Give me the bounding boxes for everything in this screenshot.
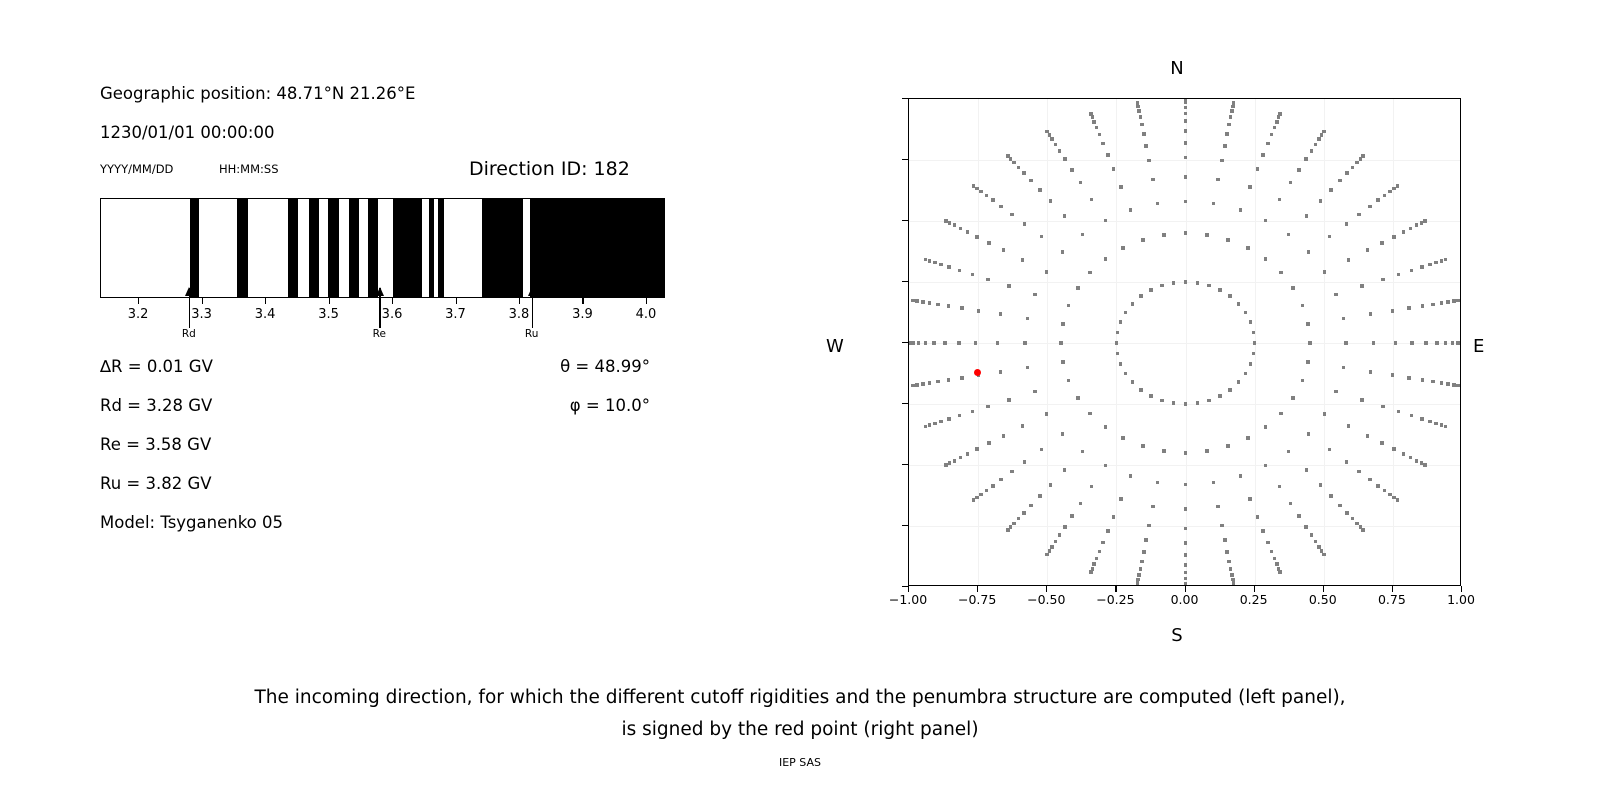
direction-dot (1058, 149, 1062, 153)
direction-dot (1216, 178, 1220, 182)
direction-dot (1184, 101, 1188, 105)
direction-dot (1089, 570, 1093, 574)
direction-dot (1355, 161, 1359, 165)
direction-dot (1006, 528, 1010, 532)
direction-dot (1435, 341, 1439, 345)
direction-dot (1409, 227, 1413, 231)
direction-dot (1402, 452, 1406, 456)
direction-dot (1050, 137, 1054, 141)
direction-dot (999, 312, 1003, 316)
direction-map-panel: −1.00−0.75−0.50−0.250.000.250.500.751.00… (0, 0, 1600, 660)
direction-dot (1396, 498, 1400, 502)
x-tick-label: 0.00 (1171, 592, 1199, 607)
direction-dot (1397, 273, 1401, 277)
direction-dot (1368, 478, 1372, 482)
direction-dot (911, 341, 915, 345)
direction-dot (1021, 424, 1025, 428)
direction-dot (1121, 436, 1125, 440)
direction-dot (1308, 341, 1312, 345)
direction-dot (1162, 449, 1166, 453)
direction-dot (944, 219, 948, 223)
direction-dot (1361, 154, 1365, 158)
direction-dot (1045, 270, 1049, 274)
direction-dot (1239, 474, 1243, 478)
caption-line-2: is signed by the red point (right panel) (0, 719, 1600, 740)
direction-dot (1184, 527, 1188, 531)
direction-dot (1225, 550, 1229, 554)
direction-dot (1415, 459, 1419, 463)
y-tick-mark (902, 98, 908, 99)
direction-dot (1229, 115, 1233, 119)
direction-dot (1045, 412, 1049, 416)
direction-dot (975, 496, 979, 500)
direction-dot (1023, 341, 1027, 345)
direction-dot (1090, 485, 1094, 489)
direction-dot (1369, 370, 1373, 374)
direction-dot (1310, 533, 1314, 537)
direction-dot (1278, 112, 1282, 116)
direction-dot (1261, 153, 1265, 157)
direction-dot (1017, 517, 1021, 521)
direction-dot (1226, 444, 1230, 448)
direction-dot (1297, 168, 1301, 172)
direction-dot (979, 190, 983, 194)
direction-dot (1440, 301, 1444, 305)
gridline-vertical (1047, 99, 1048, 585)
direction-dot (1460, 341, 1461, 345)
direction-dot (1228, 294, 1232, 298)
direction-dot (1306, 322, 1310, 326)
direction-dot (1249, 362, 1253, 366)
direction-dot (1440, 381, 1444, 385)
direction-dot (1279, 271, 1283, 275)
gridline-horizontal (909, 343, 1460, 344)
direction-dot (1012, 161, 1016, 165)
direction-dot (1063, 525, 1067, 529)
direction-dot (1104, 464, 1108, 468)
direction-dot (1184, 200, 1188, 204)
direction-dot (1104, 219, 1108, 223)
direction-dot (928, 259, 932, 263)
direction-dot (1061, 250, 1065, 254)
direction-dot (1305, 468, 1309, 472)
gridline-horizontal (909, 221, 1460, 222)
direction-dot (1360, 398, 1364, 402)
direction-dot (975, 187, 979, 191)
direction-dot (1184, 129, 1188, 133)
direction-dot (1357, 470, 1361, 474)
direction-dot (1456, 341, 1460, 345)
direction-dot (1092, 120, 1096, 124)
direction-dot (1002, 248, 1006, 252)
direction-dot (1310, 149, 1314, 153)
direction-dot (1184, 553, 1188, 557)
direction-dot (1116, 331, 1120, 335)
direction-dot (1184, 119, 1188, 123)
direction-dot (1088, 271, 1092, 275)
direction-dot (1184, 98, 1188, 101)
direction-dot (1038, 494, 1042, 498)
direction-dot (1456, 384, 1460, 388)
direction-dot (972, 184, 976, 188)
direction-dot (1444, 341, 1448, 345)
direction-dot (1334, 293, 1338, 297)
direction-dot (1304, 157, 1308, 161)
direction-dot (924, 341, 928, 345)
direction-dot (1054, 143, 1058, 147)
direction-dot (944, 463, 948, 467)
direction-dot (1119, 497, 1123, 501)
direction-dot (1156, 202, 1160, 206)
direction-dot (1291, 396, 1295, 400)
direction-dot (1270, 133, 1274, 137)
direction-dot (1287, 233, 1291, 237)
direction-dot (1366, 248, 1370, 252)
direction-dot (999, 478, 1003, 482)
direction-dot (921, 300, 925, 304)
direction-dot (1076, 396, 1080, 400)
direction-dot (1121, 246, 1125, 250)
direction-dot (1381, 405, 1385, 409)
x-tick-label: 1.00 (1447, 592, 1475, 607)
direction-dot (1289, 502, 1293, 506)
direction-dot (1225, 132, 1229, 136)
direction-dot (1048, 133, 1052, 137)
direction-dot (1329, 188, 1333, 192)
direction-dot (908, 341, 911, 345)
direction-dot (1095, 126, 1099, 130)
direction-dot (1061, 360, 1065, 364)
direction-dot (1151, 178, 1155, 182)
direction-dot (1338, 504, 1342, 508)
y-tick-mark (902, 220, 908, 221)
direction-dot (1081, 450, 1085, 454)
compass-east-label: E (1473, 336, 1484, 357)
direction-dot (1136, 581, 1140, 585)
direction-dot (1264, 464, 1268, 468)
direction-dot (1205, 449, 1209, 453)
direction-dot (911, 299, 915, 303)
direction-dot (1227, 560, 1231, 564)
direction-dot (917, 341, 921, 345)
direction-dot (1141, 444, 1145, 448)
direction-dot (1275, 562, 1279, 566)
direction-dot (1391, 373, 1395, 377)
direction-dot (1351, 517, 1355, 521)
direction-dot (1184, 541, 1188, 545)
direction-dot (1317, 137, 1321, 141)
direction-dot (1421, 304, 1425, 308)
direction-dot (1002, 434, 1006, 438)
direction-dot (1397, 410, 1401, 414)
direction-dot (1291, 286, 1295, 290)
direction-dot (1264, 257, 1268, 261)
direction-dot (1372, 341, 1376, 345)
direction-dot (1140, 123, 1144, 127)
direction-dot (1106, 153, 1110, 157)
direction-dot (1142, 550, 1146, 554)
direction-dot (959, 227, 963, 231)
direction-dot (1314, 143, 1318, 147)
direction-dot (1095, 557, 1099, 561)
direction-dot (947, 378, 951, 382)
direction-dot (1237, 302, 1241, 306)
direction-dot (1063, 157, 1067, 161)
direction-dot (1421, 378, 1425, 382)
direction-dot (1098, 133, 1102, 137)
direction-dot (932, 341, 936, 345)
direction-dot (1196, 281, 1200, 285)
direction-dot (975, 447, 979, 451)
direction-dot (1010, 470, 1014, 474)
direction-dot (1139, 115, 1143, 119)
direction-dot (958, 269, 962, 273)
direction-dot (1088, 412, 1092, 416)
direction-dot (985, 489, 989, 493)
direction-dot (1050, 545, 1054, 549)
direction-dot (1045, 130, 1049, 134)
direction-dot (1156, 481, 1160, 485)
direction-dot (1144, 144, 1148, 148)
direction-dot (1434, 261, 1438, 265)
direction-dot (1218, 394, 1222, 398)
direction-dot (1410, 414, 1414, 418)
direction-dot (1090, 198, 1094, 202)
direction-dot (1383, 194, 1387, 198)
direction-dot (1338, 179, 1342, 183)
direction-dot (1297, 514, 1301, 518)
y-tick-mark (902, 159, 908, 160)
x-tick-label: 0.50 (1309, 592, 1337, 607)
direction-dot (1420, 417, 1424, 421)
direction-dot (1388, 190, 1392, 194)
direction-dot (958, 414, 962, 418)
direction-dot (971, 410, 975, 414)
direction-dot (1144, 538, 1148, 542)
direction-dot (948, 461, 952, 465)
direction-dot (1131, 380, 1135, 384)
direction-dot (1264, 219, 1268, 223)
direction-dot (1006, 154, 1010, 158)
direction-dot (1049, 199, 1053, 203)
direction-dot (933, 261, 937, 265)
direction-dot (1067, 304, 1071, 308)
direction-dot (947, 417, 951, 421)
direction-dot (1223, 538, 1227, 542)
direction-dot (1061, 432, 1065, 436)
direction-dot (1184, 577, 1188, 581)
direction-dot (1112, 167, 1116, 171)
x-tick-label: −0.25 (1096, 592, 1134, 607)
direction-dot (1383, 489, 1387, 493)
direction-dot (928, 423, 932, 427)
direction-dot (1061, 322, 1065, 326)
direction-dot (1038, 188, 1042, 192)
direction-dot (1368, 205, 1372, 209)
direction-dot (1456, 299, 1460, 303)
direction-dot (1328, 235, 1332, 239)
direction-dot (1410, 341, 1414, 345)
direction-dot (1431, 380, 1435, 384)
direction-dot (953, 223, 957, 227)
x-tick-label: −0.50 (1027, 592, 1065, 607)
direction-dot (1129, 474, 1133, 478)
direction-dot (1101, 541, 1105, 545)
y-tick-mark (902, 281, 908, 282)
direction-dot (1067, 379, 1071, 383)
direction-dot (1444, 258, 1448, 262)
direction-dot (1184, 402, 1188, 406)
direction-dot (1409, 456, 1413, 460)
direction-dot (1402, 230, 1406, 234)
direction-dot (1380, 241, 1384, 245)
direction-dot (1023, 222, 1027, 226)
direction-dot (1428, 420, 1432, 424)
direction-dot (1289, 181, 1293, 185)
direction-dot (1317, 545, 1321, 549)
direction-dot (1119, 320, 1123, 324)
direction-dot (1407, 306, 1411, 310)
direction-dot (1029, 179, 1033, 183)
direction-dot (1092, 562, 1096, 566)
direction-dot (1275, 120, 1279, 124)
direction-dot (1392, 447, 1396, 451)
direction-dot (1345, 460, 1349, 464)
direction-dot (1160, 284, 1164, 288)
direction-dot (986, 278, 990, 282)
y-tick-mark (902, 403, 908, 404)
direction-dot (1329, 494, 1333, 498)
direction-dot (960, 306, 964, 310)
direction-dot (1264, 425, 1268, 429)
direction-dot (1347, 424, 1351, 428)
direction-dot (1196, 401, 1200, 405)
direction-dot (1160, 399, 1164, 403)
direction-dot (924, 425, 928, 429)
direction-dot (1136, 101, 1140, 105)
direction-dot (1147, 524, 1151, 528)
direction-dot (1232, 581, 1236, 585)
direction-dot (1124, 372, 1128, 376)
direction-dot (1058, 533, 1062, 537)
direction-dot (1033, 293, 1037, 297)
direction-dot (1101, 142, 1105, 146)
direction-dot (1216, 505, 1220, 509)
direction-dot (1040, 235, 1044, 239)
direction-dot (1022, 171, 1026, 175)
direction-dot (1184, 280, 1188, 284)
direction-dot (1104, 425, 1108, 429)
direction-dot (1248, 497, 1252, 501)
direction-dot (1226, 238, 1230, 242)
direction-dot (1184, 507, 1188, 511)
direction-dot (1428, 263, 1432, 267)
direction-dot (1248, 185, 1252, 189)
direction-dot (1319, 199, 1323, 203)
direction-dot (996, 341, 1000, 345)
direction-dot (928, 381, 932, 385)
x-tick-label: 0.75 (1378, 592, 1406, 607)
direction-dot (1228, 388, 1232, 392)
direction-dot (1391, 309, 1395, 313)
direction-dot (966, 230, 970, 234)
direction-dot (1230, 109, 1234, 113)
direction-dot (924, 258, 928, 262)
direction-dot (1131, 302, 1135, 306)
direction-dot (936, 380, 940, 384)
direction-dot (1434, 422, 1438, 426)
direction-dot (928, 301, 932, 305)
direction-dot (1106, 529, 1110, 533)
direction-dot (1246, 436, 1250, 440)
direction-dot (1394, 341, 1398, 345)
direction-dot (1277, 115, 1281, 119)
direction-dot (1220, 524, 1224, 528)
direction-dot (1162, 233, 1166, 237)
direction-dot (1431, 303, 1435, 307)
direction-dot (1089, 112, 1093, 116)
direction-dot (1207, 399, 1211, 403)
direction-dot (1098, 550, 1102, 554)
direction-dot (1012, 522, 1016, 526)
direction-dot (1149, 394, 1153, 398)
direction-dot (1344, 341, 1348, 345)
direction-dot (1253, 341, 1257, 345)
direction-dot (957, 341, 961, 345)
direction-dot (1314, 540, 1318, 544)
direction-dot (1347, 258, 1351, 262)
direction-dot (1323, 412, 1327, 416)
direction-dot (1446, 300, 1450, 304)
direction-dot (1124, 311, 1128, 315)
direction-dot (1261, 529, 1265, 533)
direction-dot (1116, 352, 1120, 356)
direction-dot (991, 198, 995, 202)
direction-dot (1184, 571, 1188, 575)
direction-dot (1091, 115, 1095, 119)
direction-dot (1237, 380, 1241, 384)
direction-dot (999, 205, 1003, 209)
direction-dot (1278, 485, 1282, 489)
direction-dot (1306, 360, 1310, 364)
direction-dot (1137, 109, 1141, 113)
direction-dot (947, 265, 951, 269)
direction-dot (1270, 550, 1274, 554)
direction-dot (1452, 383, 1456, 387)
direction-dot (1423, 463, 1427, 467)
direction-dot (1070, 514, 1074, 518)
direction-dot (1079, 502, 1083, 506)
direction-dot (1054, 540, 1058, 544)
direction-dot (1026, 317, 1030, 321)
direction-dot (1129, 208, 1133, 212)
direction-dot (1304, 525, 1308, 529)
direction-dot (1392, 235, 1396, 239)
direction-dot (911, 384, 915, 388)
direction-dot (1229, 567, 1233, 571)
direction-dot (1357, 213, 1361, 217)
direction-dot (1319, 483, 1323, 487)
direction-dot (1305, 214, 1309, 218)
direction-dot (1147, 159, 1151, 163)
direction-dot (1351, 166, 1355, 170)
direction-dot (1279, 412, 1283, 416)
direction-dot (1307, 250, 1311, 254)
direction-dot (1301, 304, 1305, 308)
direction-dot (1212, 202, 1216, 206)
direction-dot (1342, 317, 1346, 321)
direction-dot (1007, 398, 1011, 402)
